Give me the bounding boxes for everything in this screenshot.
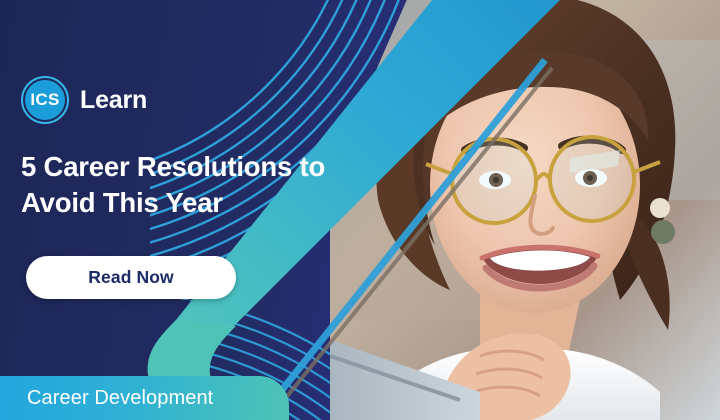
headline: 5 Career Resolutions to Avoid This Year	[21, 149, 351, 221]
promo-banner: ICS Learn 5 Career Resolutions to Avoid …	[0, 0, 720, 420]
banner-content: ICS Learn 5 Career Resolutions to Avoid …	[0, 0, 720, 420]
ics-circle-logo-icon: ICS	[21, 76, 69, 124]
logo-mark-text: ICS	[21, 76, 69, 124]
logo-wordmark: Learn	[80, 86, 147, 115]
read-now-button[interactable]: Read Now	[26, 256, 236, 299]
category-tag-label: Career Development	[0, 387, 213, 410]
category-tag[interactable]: Career Development	[0, 376, 289, 420]
brand-logo[interactable]: ICS Learn	[21, 76, 147, 124]
